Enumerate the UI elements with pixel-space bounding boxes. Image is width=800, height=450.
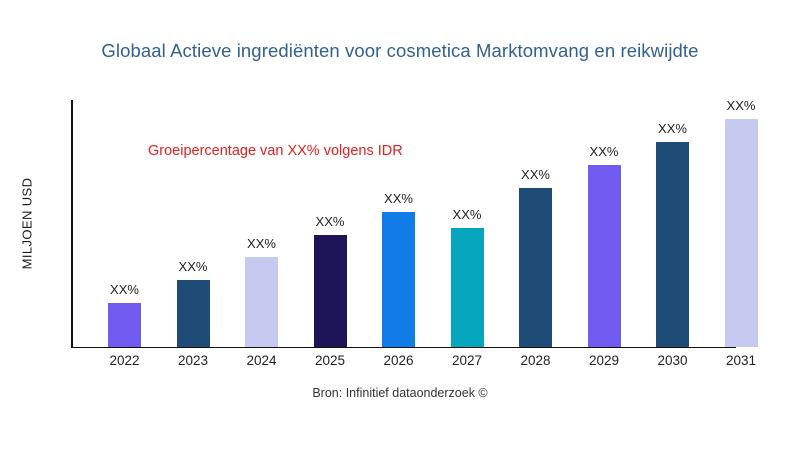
x-tick-label-2029: 2029 — [569, 353, 639, 368]
x-tick-label-2023: 2023 — [158, 353, 228, 368]
x-tick-label-2026: 2026 — [364, 353, 434, 368]
x-tick-label-2025: 2025 — [295, 353, 365, 368]
bar-value-label-2025: XX% — [290, 214, 370, 229]
x-tick-label-2022: 2022 — [90, 353, 160, 368]
bar-value-label-2031: XX% — [701, 98, 781, 113]
bar-2031 — [725, 119, 758, 347]
plot-area: XX%2022XX%2023XX%2024XX%2025XX%2026XX%20… — [0, 0, 800, 450]
bar-2028 — [519, 188, 552, 347]
bar-2026 — [382, 212, 415, 347]
bar-value-label-2030: XX% — [633, 121, 713, 136]
bar-2022 — [108, 303, 141, 347]
bar-2024 — [245, 257, 278, 347]
x-tick-label-2028: 2028 — [501, 353, 571, 368]
bar-value-label-2027: XX% — [427, 207, 507, 222]
source-note: Bron: Infinitief dataonderzoek © — [0, 386, 800, 400]
bar-value-label-2026: XX% — [359, 191, 439, 206]
chart-figure: Globaal Actieve ingrediënten voor cosmet… — [0, 0, 800, 450]
bar-2030 — [656, 142, 689, 347]
x-tick-label-2027: 2027 — [432, 353, 502, 368]
bar-value-label-2022: XX% — [85, 282, 165, 297]
bar-value-label-2028: XX% — [496, 167, 576, 182]
bar-value-label-2023: XX% — [153, 259, 233, 274]
bar-2025 — [314, 235, 347, 347]
x-tick-label-2030: 2030 — [638, 353, 708, 368]
bar-value-label-2029: XX% — [564, 144, 644, 159]
bar-2027 — [451, 228, 484, 347]
x-tick-label-2024: 2024 — [227, 353, 297, 368]
bar-2029 — [588, 165, 621, 347]
x-tick-label-2031: 2031 — [706, 353, 776, 368]
bar-value-label-2024: XX% — [222, 236, 302, 251]
bar-2023 — [177, 280, 210, 347]
